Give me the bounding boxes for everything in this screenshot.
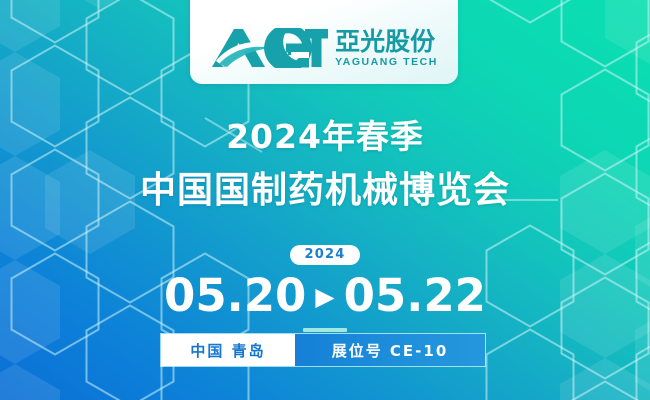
year-badge: 2024	[290, 245, 361, 265]
agt-logo-icon	[210, 28, 328, 68]
title-line-1: 2024年春季	[0, 118, 650, 157]
exhibition-banner: 亞光股份 YAGUANG TECH 2024年春季 中国国制药机械博览会 202…	[0, 0, 650, 400]
info-bar: 中国 青岛 展位号 CE-10	[160, 333, 486, 367]
year-pill-wrap: 2024	[0, 245, 650, 265]
date-range: 05.20 ▶ 05.22	[0, 272, 650, 319]
logo-lockup: 亞光股份 YAGUANG TECH	[210, 28, 438, 68]
arrow-right-icon: ▶	[315, 284, 334, 309]
logo-wordmark: 亞光股份 YAGUANG TECH	[335, 29, 438, 68]
booth-number-label: 展位号 CE-10	[295, 334, 485, 366]
title-block: 2024年春季 中国国制药机械博览会	[0, 118, 650, 212]
location-label: 中国 青岛	[161, 334, 295, 366]
date-end: 05.22	[344, 272, 486, 319]
date-underline-rule	[303, 328, 347, 332]
date-start: 05.20	[164, 272, 306, 319]
logo-company-name-en: YAGUANG TECH	[335, 57, 438, 68]
title-line-2: 中国国制药机械博览会	[0, 169, 650, 212]
logo-company-name-cn: 亞光股份	[335, 29, 438, 54]
date-block: 2024 05.20 ▶ 05.22	[0, 245, 650, 332]
logo-card: 亞光股份 YAGUANG TECH	[190, 0, 458, 84]
